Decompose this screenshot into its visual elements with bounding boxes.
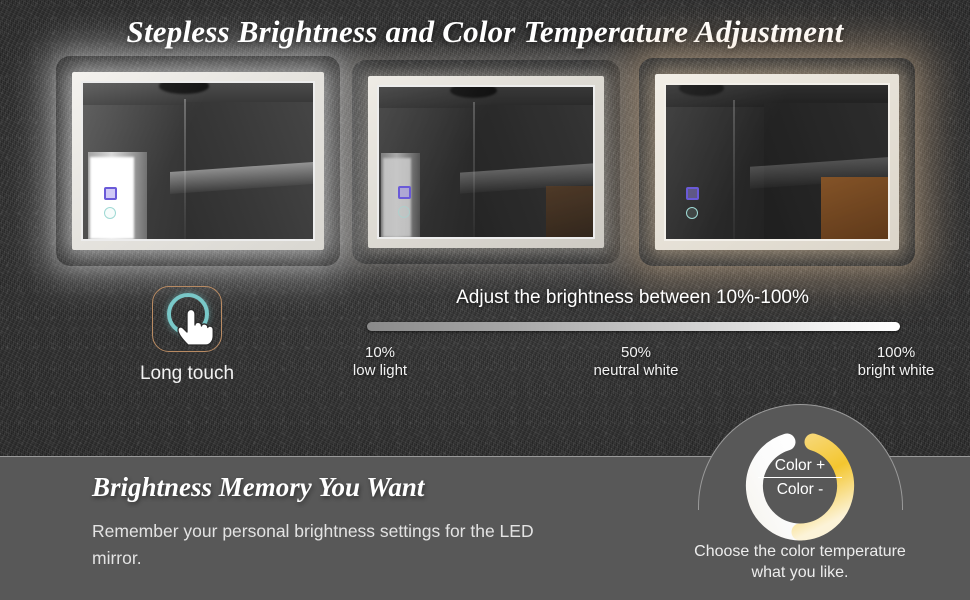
mirror-reflection	[666, 85, 888, 239]
promo-banner: Stepless Brightness and Color Temperatur…	[0, 0, 970, 600]
color-temperature-labels: Color + Color -	[758, 455, 842, 500]
touch-button-circle-icon[interactable]	[686, 207, 698, 219]
mirror-neutral	[368, 76, 604, 248]
slider-mark-name: low light	[330, 362, 430, 380]
touch-button-circle-icon[interactable]	[398, 206, 410, 218]
mirror-bright	[72, 72, 324, 250]
long-touch-label: Long touch	[82, 363, 292, 385]
brightness-title: Adjust the brightness between 10%-100%	[350, 287, 915, 309]
color-minus-label[interactable]: Color -	[758, 478, 842, 500]
mirror-glass	[81, 81, 315, 241]
memory-body: Remember your personal brightness settin…	[92, 518, 562, 572]
touch-button-square-icon[interactable]	[398, 186, 411, 199]
slider-mark-name: bright white	[846, 362, 946, 380]
long-touch-icon[interactable]	[152, 286, 222, 352]
mirror-glass	[664, 83, 890, 241]
touch-button-circle-icon[interactable]	[104, 207, 116, 219]
mirror-warm	[655, 74, 899, 250]
hand-pointer-icon	[175, 307, 217, 347]
brightness-slider[interactable]	[367, 322, 900, 331]
mirror-frame	[655, 74, 899, 250]
mirror-touch-controls[interactable]	[398, 186, 411, 218]
memory-title: Brightness Memory You Want	[92, 472, 424, 503]
page-title: Stepless Brightness and Color Temperatur…	[0, 14, 970, 50]
slider-mark-pct: 50%	[586, 344, 686, 362]
color-plus-label[interactable]: Color +	[758, 455, 842, 478]
touch-button-square-icon[interactable]	[104, 187, 117, 200]
mirror-frame	[368, 76, 604, 248]
mirror-frame	[72, 72, 324, 250]
mirror-glass	[377, 85, 595, 239]
mirror-touch-controls[interactable]	[686, 187, 699, 219]
mirror-reflection	[83, 83, 313, 239]
color-temperature-caption: Choose the color temperature what you li…	[690, 541, 910, 583]
slider-mark-name: neutral white	[586, 362, 686, 380]
slider-mark-50: 50% neutral white	[586, 344, 686, 380]
slider-mark-10: 10% low light	[330, 344, 430, 380]
slider-mark-pct: 10%	[330, 344, 430, 362]
mirror-touch-controls[interactable]	[104, 187, 117, 219]
slider-mark-100: 100% bright white	[846, 344, 946, 380]
touch-button-square-icon[interactable]	[686, 187, 699, 200]
slider-mark-pct: 100%	[846, 344, 946, 362]
